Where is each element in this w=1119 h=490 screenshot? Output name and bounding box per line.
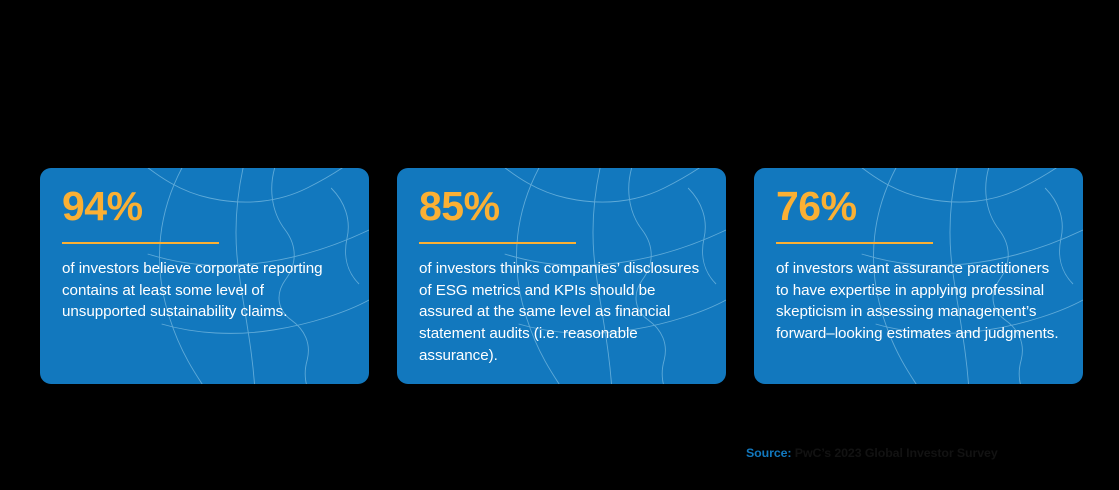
stat-card: 76% of investors want assurance practiti…: [754, 168, 1083, 384]
stat-divider-rule: [419, 242, 576, 244]
stat-divider-rule: [776, 242, 933, 244]
stat-description: of investors want assurance practitioner…: [776, 258, 1061, 345]
stat-card-content: 85% of investors thinks companies’ discl…: [408, 186, 704, 367]
stat-card-row: 94% of investors believe corporate repor…: [40, 168, 1083, 384]
source-label: Source:: [746, 446, 791, 460]
stat-description: of investors believe corporate reporting…: [62, 258, 347, 323]
source-note: Source: PwC’s 2023 Global Investor Surve…: [746, 446, 998, 460]
source-citation: PwC’s 2023 Global Investor Survey: [791, 446, 997, 460]
stat-card: 85% of investors thinks companies’ discl…: [397, 168, 726, 384]
stat-divider-rule: [62, 242, 219, 244]
stat-card-content: 76% of investors want assurance practiti…: [765, 186, 1061, 345]
stat-card: 94% of investors believe corporate repor…: [40, 168, 369, 384]
stat-percentage: 94%: [62, 186, 347, 228]
stat-description: of investors thinks companies’ disclosur…: [419, 258, 704, 367]
stat-percentage: 85%: [419, 186, 704, 228]
stat-card-content: 94% of investors believe corporate repor…: [51, 186, 347, 323]
stat-percentage: 76%: [776, 186, 1061, 228]
infographic-canvas: 94% of investors believe corporate repor…: [0, 0, 1119, 490]
